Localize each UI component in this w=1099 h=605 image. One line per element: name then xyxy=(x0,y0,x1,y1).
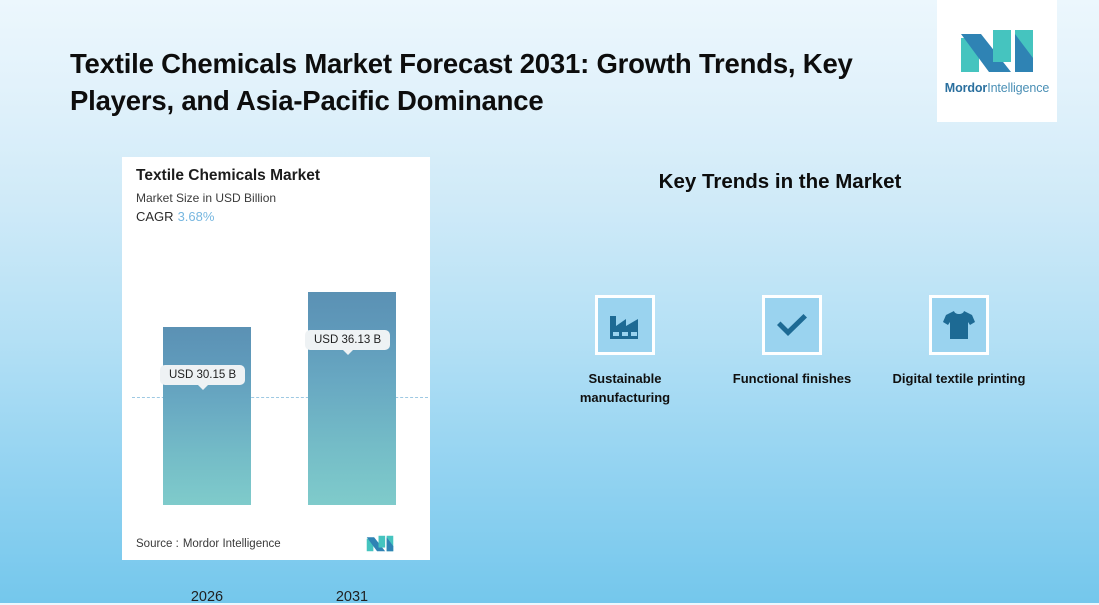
brand-logo: MordorIntelligence xyxy=(937,0,1057,122)
logo-brand-light: Intelligence xyxy=(987,81,1049,95)
trend-label: Functional finishes xyxy=(712,370,872,389)
trend-item-functional-finishes[interactable]: Functional finishes xyxy=(712,295,872,389)
source-name: Mordor Intelligence xyxy=(183,538,281,550)
logo-brand-bold: Mordor xyxy=(945,81,987,95)
factory-icon xyxy=(608,310,642,340)
cagr-label: CAGR xyxy=(136,209,174,224)
logo-wordmark: MordorIntelligence xyxy=(945,81,1050,95)
trend-icon-box xyxy=(762,295,822,355)
bar-2026[interactable] xyxy=(163,327,251,505)
chart-subtitle: Market Size in USD Billion xyxy=(136,191,276,205)
trend-icon-box xyxy=(929,295,989,355)
check-icon xyxy=(774,310,810,340)
mordor-logo-icon xyxy=(959,28,1035,74)
source-row: Source :Mordor Intelligence xyxy=(136,538,281,550)
trend-item-sustainable-manufacturing[interactable]: Sustainable manufacturing xyxy=(545,295,705,408)
plot-area: USD 30.15 B 2026 USD 36.13 B 2031 xyxy=(122,237,430,505)
trend-icon-box xyxy=(595,295,655,355)
bar-2031[interactable] xyxy=(308,292,396,505)
chart-card: Textile Chemicals Market Market Size in … xyxy=(122,157,430,560)
trend-item-digital-textile-printing[interactable]: Digital textile printing xyxy=(879,295,1039,389)
tshirt-icon xyxy=(942,309,976,341)
trend-label: Sustainable manufacturing xyxy=(545,370,705,408)
trend-label: Digital textile printing xyxy=(879,370,1039,389)
bar-label-2026: USD 30.15 B xyxy=(160,365,245,385)
cagr-row: CAGR3.68% xyxy=(136,209,214,224)
chart-title: Textile Chemicals Market xyxy=(136,167,320,185)
mordor-logo-mini-icon xyxy=(366,535,394,552)
cagr-value: 3.68% xyxy=(178,209,215,224)
page-title: Textile Chemicals Market Forecast 2031: … xyxy=(70,46,890,119)
source-label: Source : xyxy=(136,538,179,550)
trends-heading: Key Trends in the Market xyxy=(560,170,1000,194)
bar-label-2031: USD 36.13 B xyxy=(305,330,390,350)
